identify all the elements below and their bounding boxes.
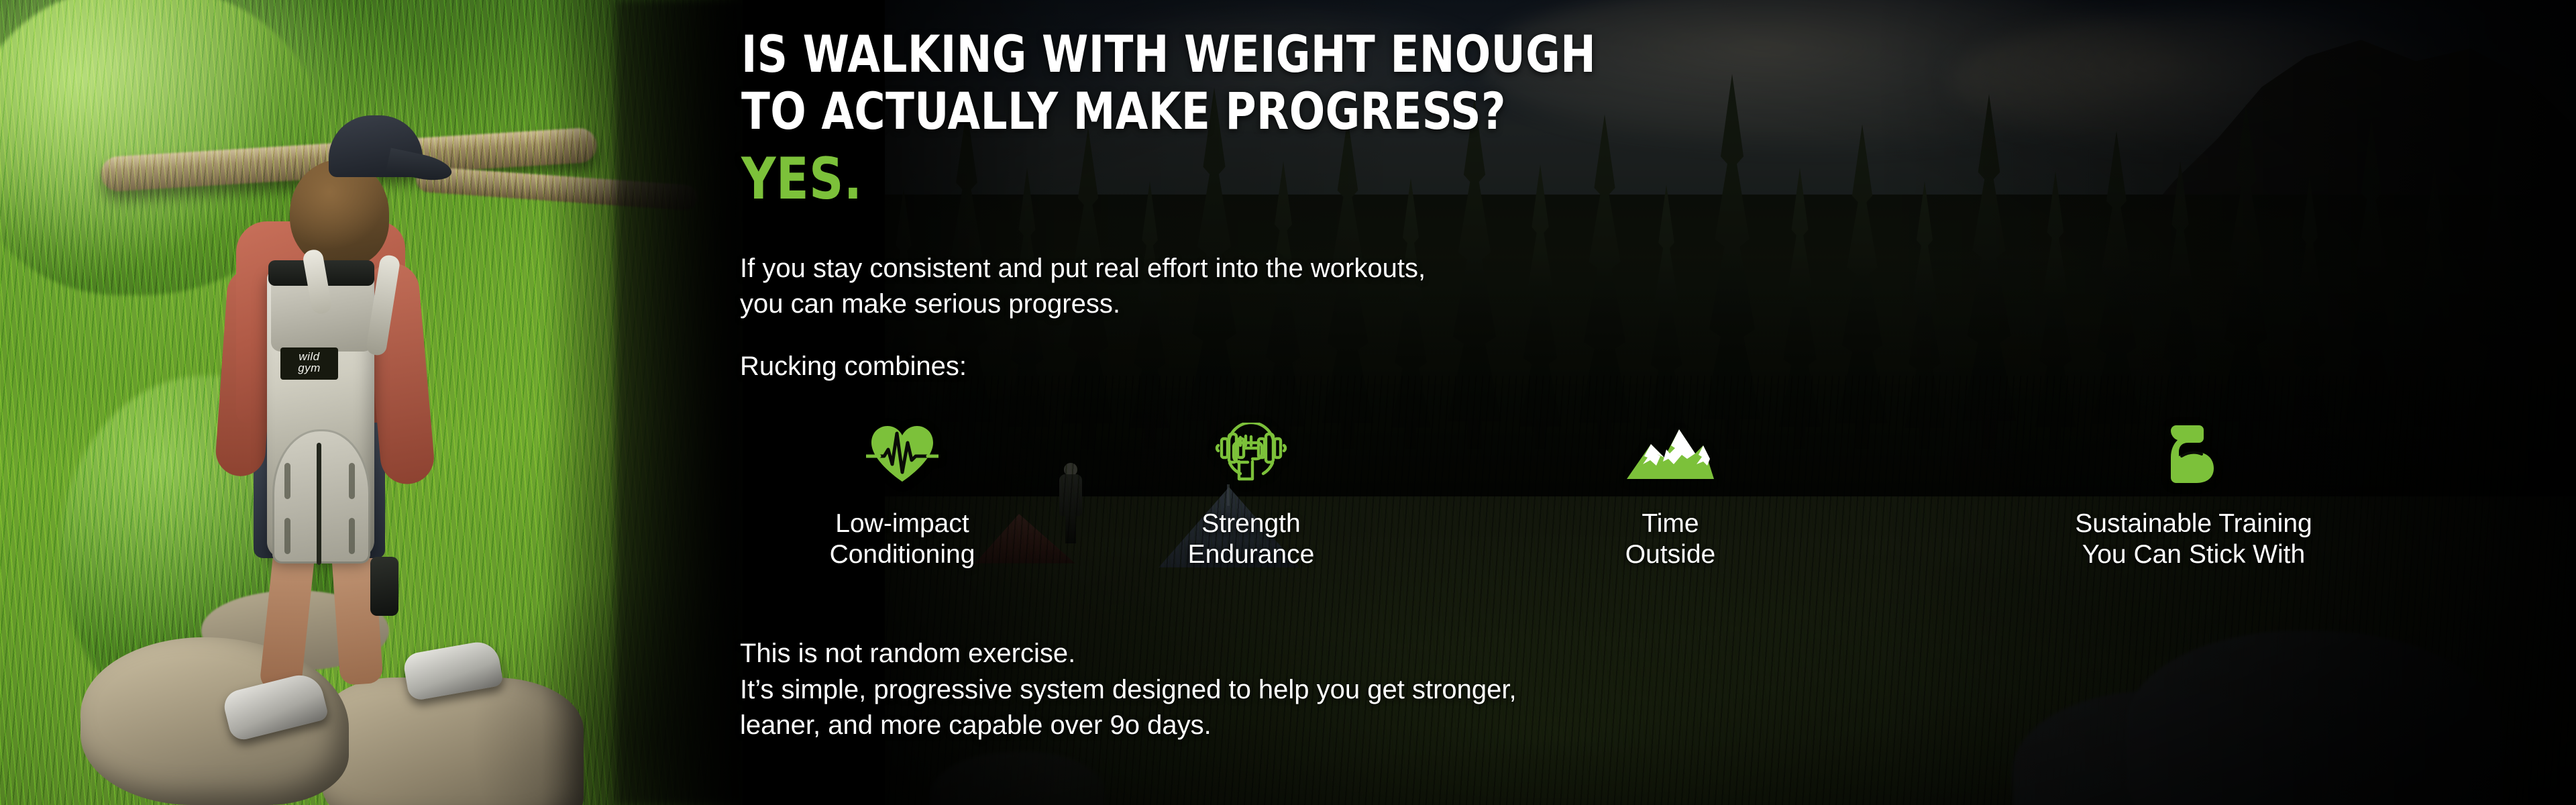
feature-label: Time Outside bbox=[1625, 508, 1715, 570]
feature-label: Sustainable Training You Can Stick With bbox=[2075, 508, 2312, 570]
mountain-icon bbox=[1625, 423, 1715, 484]
heart-pulse-icon bbox=[866, 423, 938, 484]
feature-list: Low-impact Conditioning bbox=[758, 423, 2502, 617]
closing-paragraph: This is not random exercise. It’s simple… bbox=[740, 636, 1517, 744]
feature-label: Strength Endurance bbox=[1188, 508, 1315, 570]
banner-content: IS WALKING WITH WEIGHT ENOUGH TO ACTUALL… bbox=[0, 0, 2576, 805]
fist-dumbbell-icon bbox=[1214, 423, 1289, 484]
feature-item-time-outside: Time Outside bbox=[1456, 423, 1885, 570]
feature-item-sustainable-training: Sustainable Training You Can Stick With bbox=[1885, 423, 2502, 570]
headline-answer: YES. bbox=[741, 150, 862, 208]
rucking-promo-banner: wild gym bbox=[0, 0, 2576, 805]
feature-item-strength-endurance: Strength Endurance bbox=[1046, 423, 1456, 570]
lead-paragraph: If you stay consistent and put real effo… bbox=[740, 251, 1426, 322]
flexed-bicep-icon bbox=[2161, 423, 2226, 484]
feature-label: Low-impact Conditioning bbox=[830, 508, 975, 570]
feature-item-low-impact-conditioning: Low-impact Conditioning bbox=[758, 423, 1046, 570]
combines-label: Rucking combines: bbox=[740, 349, 967, 384]
page-title: IS WALKING WITH WEIGHT ENOUGH TO ACTUALL… bbox=[741, 25, 1596, 140]
